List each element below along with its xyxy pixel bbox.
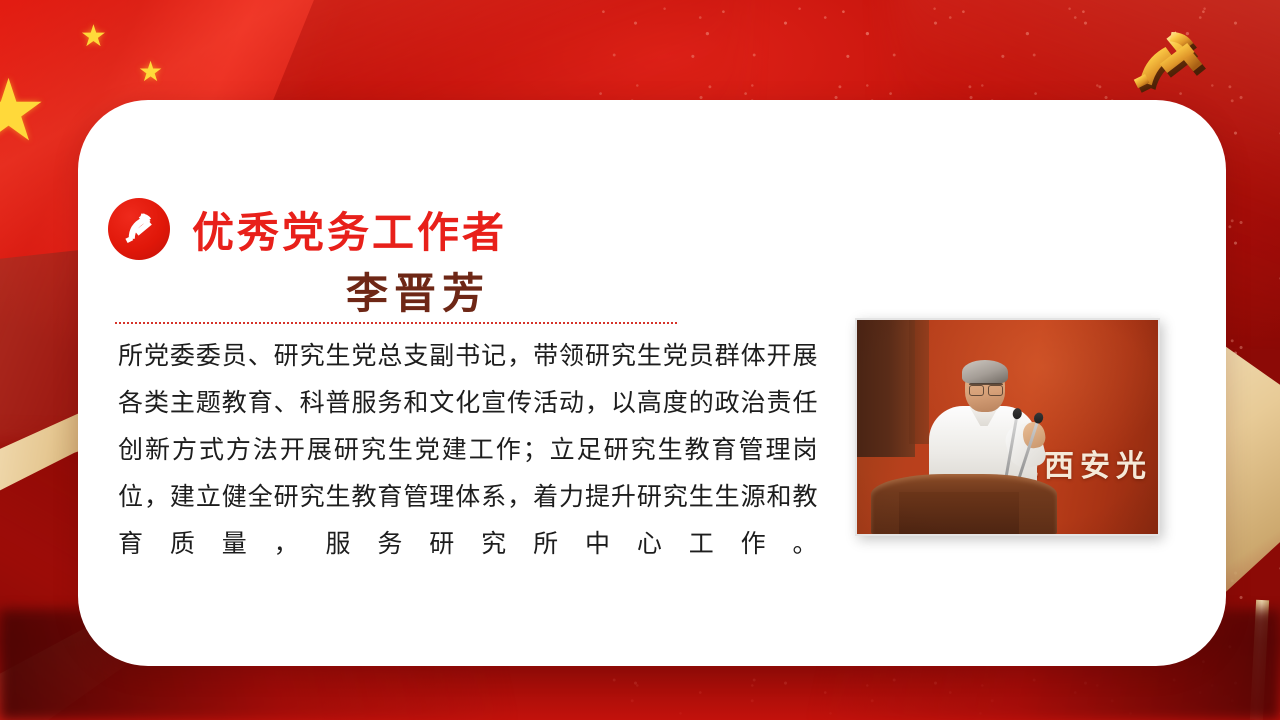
- content-card: 优秀党务工作者 李晋芳 所党委委员、研究生党总支副书记，带领研究生党员群体开展各…: [78, 100, 1226, 666]
- flag-star-small-1: ★: [80, 22, 107, 52]
- header-row: 优秀党务工作者: [108, 198, 507, 260]
- page-title: 优秀党务工作者: [192, 199, 507, 260]
- party-emblem-icon: [108, 198, 170, 260]
- photo-curtain-left: [857, 320, 915, 457]
- photo-podium-base: [899, 492, 1019, 534]
- biography-text: 所党委委员、研究生党总支副书记，带领研究生党员群体开展各类主题教育、科普服务和文…: [118, 332, 818, 567]
- person-photo: 院西安光: [855, 318, 1160, 536]
- slide-canvas: ★ ★ ★ ★ ★: [0, 0, 1280, 720]
- photo-person-glasses: [969, 383, 1003, 392]
- flag-star-small-2: ★: [138, 58, 163, 86]
- photo-person-hair: [962, 360, 1008, 384]
- photo-curtain-left-2: [909, 320, 929, 444]
- dotted-divider: [115, 322, 677, 324]
- flag-star-large: ★: [0, 68, 47, 154]
- golden-party-emblem-icon: [1118, 18, 1228, 110]
- person-name: 李晋芳: [346, 260, 490, 321]
